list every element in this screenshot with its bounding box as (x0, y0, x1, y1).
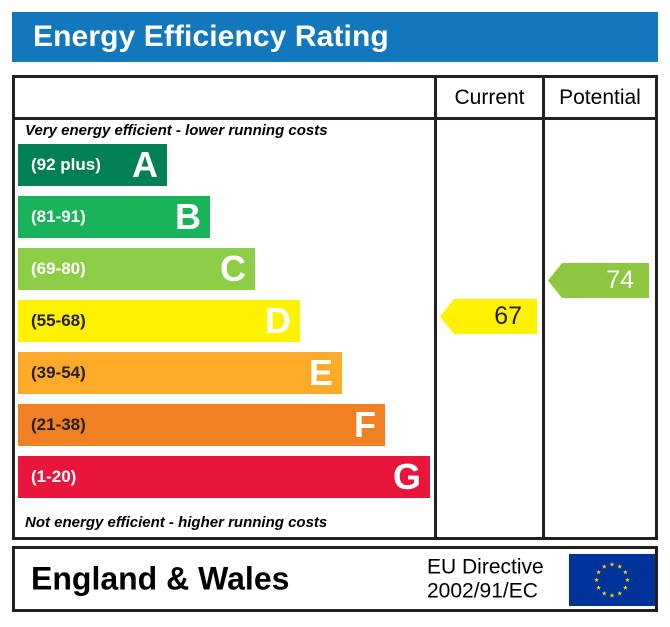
footer-region-label: England & Wales (31, 561, 289, 598)
column-header-current: Current (437, 78, 542, 117)
eu-star (596, 570, 601, 575)
eu-star (625, 578, 630, 583)
eu-star (617, 591, 622, 596)
eu-star (602, 591, 607, 596)
band-g: (1-20)G (18, 456, 430, 498)
current-rating-value: 67 (494, 302, 522, 331)
eu-star (610, 593, 615, 598)
band-range-c: (69-80) (31, 259, 86, 279)
band-range-f: (21-38) (31, 415, 86, 435)
band-range-b: (81-91) (31, 207, 86, 227)
footer-directive-label: EU Directive 2002/91/EC (427, 555, 544, 602)
band-d: (55-68)D (18, 300, 300, 342)
caption-not-efficient: Not energy efficient - higher running co… (25, 514, 327, 531)
band-e: (39-54)E (18, 352, 342, 394)
footer-bar: England & Wales EU Directive 2002/91/EC (12, 546, 658, 612)
eu-star (617, 564, 622, 569)
band-letter-e: E (309, 355, 333, 391)
eu-star (602, 564, 607, 569)
band-letter-f: F (354, 407, 376, 443)
potential-rating-value: 74 (606, 266, 634, 295)
band-b: (81-91)B (18, 196, 210, 238)
band-range-d: (55-68) (31, 311, 86, 331)
band-letter-g: G (393, 459, 421, 495)
band-letter-c: C (220, 251, 246, 287)
eu-star (623, 585, 628, 590)
band-range-e: (39-54) (31, 363, 86, 383)
eu-star (596, 585, 601, 590)
column-divider-potential (542, 78, 545, 537)
page-title: Energy Efficiency Rating (33, 20, 389, 54)
eu-flag-icon (569, 554, 655, 606)
band-range-g: (1-20) (31, 467, 76, 487)
band-letter-a: A (132, 147, 158, 183)
column-header-potential: Potential (545, 78, 655, 117)
epc-certificate: Energy Efficiency Rating Current Potenti… (0, 0, 670, 627)
eu-star (610, 562, 615, 567)
current-rating-marker: 67 (440, 299, 537, 334)
eu-flag-stars (569, 554, 655, 606)
caption-very-efficient: Very energy efficient - lower running co… (25, 122, 328, 139)
potential-rating-marker: 74 (548, 263, 649, 298)
eu-star (594, 578, 599, 583)
directive-line-2: 2002/91/EC (427, 579, 544, 603)
band-c: (69-80)C (18, 248, 255, 290)
eu-star (623, 570, 628, 575)
band-f: (21-38)F (18, 404, 385, 446)
band-letter-d: D (265, 303, 291, 339)
title-banner: Energy Efficiency Rating (12, 12, 658, 62)
column-divider-current (434, 78, 437, 537)
band-list: (92 plus)A(81-91)B(69-80)C(55-68)D(39-54… (15, 144, 434, 510)
rating-table: Current Potential Very energy efficient … (12, 75, 658, 540)
band-range-a: (92 plus) (31, 155, 101, 175)
band-a: (92 plus)A (18, 144, 167, 186)
directive-line-1: EU Directive (427, 555, 544, 579)
band-letter-b: B (175, 199, 201, 235)
